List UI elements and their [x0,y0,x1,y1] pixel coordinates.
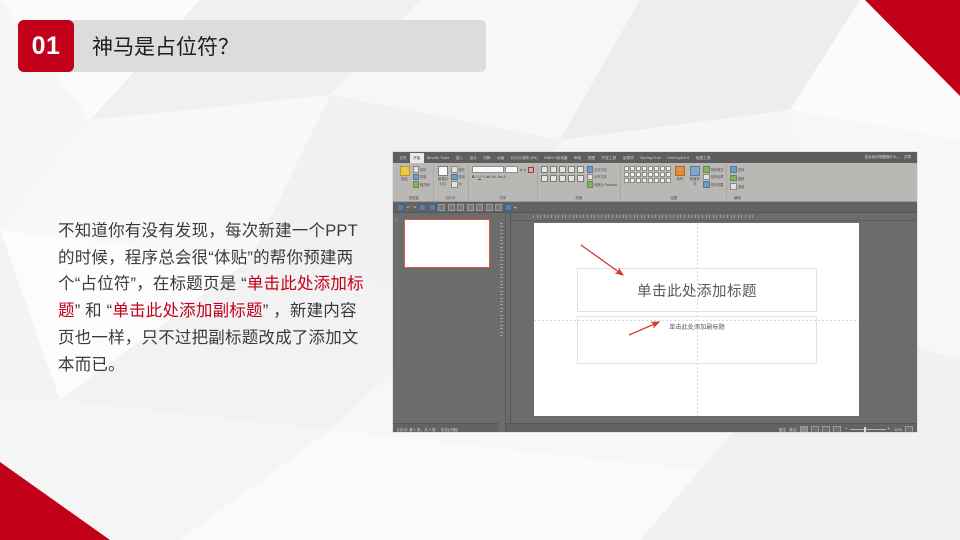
align-center-icon[interactable] [550,175,557,182]
shape-cell[interactable] [648,166,653,171]
ruler-tick [500,243,504,244]
section-number-text: 01 [32,32,61,61]
zoom-track[interactable] [850,429,886,430]
ruler-tick [587,215,588,219]
ruler-tick [500,325,504,326]
ribbon-tab-9[interactable]: 审阅 [571,153,585,163]
shape-cell[interactable] [666,178,671,183]
ruler-tick [630,215,631,219]
align-left-icon[interactable] [541,175,548,182]
ruler-tick [702,215,703,219]
workspace: 1 单击此处添加标题 单击此处添加副标题 [393,213,917,423]
ruler-tick [623,215,624,219]
shape-cell[interactable] [654,166,659,171]
new-file-icon[interactable] [429,204,436,211]
status-language[interactable]: 中文(中国) [441,426,458,433]
ruler-tick [565,215,566,219]
ruler-tick [749,215,750,219]
ruler-tick [666,215,667,219]
body-paragraph: 不知道你有没有发现，每次新建一个PPT的时候，程序总会很“体贴”的帮你预建两个“… [58,218,370,378]
shape-cell[interactable] [624,172,629,177]
ruler-tick [500,328,504,329]
layout-icon [451,166,458,173]
columns-icon[interactable] [577,175,584,182]
ruler-tick [723,215,724,219]
tool4-icon[interactable] [486,204,493,211]
ruler-tick [500,260,504,261]
align-text-button[interactable]: 对齐文本 [587,174,618,181]
ruler-tick [500,240,504,241]
ribbon-group-font: A A B I U S ab AV Aa A 字体 [469,164,538,201]
ribbon-group-clipboard: 粘贴 剪切 复制 格式刷 剪贴板 [395,164,434,201]
ribbon-tab-bar: 文件开始Nevolin Tools插入设计切换动画幻灯片放映 (PA)ABBYY… [393,152,917,163]
copy-button[interactable]: 复制 [413,174,430,181]
ruler-tick [500,287,504,288]
increase-indent-icon[interactable] [568,166,575,173]
increase-font-icon[interactable]: A [520,168,523,172]
ruler-tick [533,215,534,219]
shape-cell[interactable] [636,172,641,177]
shape-outline-button[interactable]: 形状轮廓 [703,174,723,181]
ruler-tick [691,215,692,219]
ruler-tick [713,215,714,219]
tool5-icon[interactable] [495,204,502,211]
ruler-tick [555,215,556,219]
slide-thumbnail-1[interactable] [404,219,490,268]
ruler-tick [500,301,504,302]
undo-icon[interactable]: ↶ [407,205,411,210]
shape-cell[interactable] [660,178,665,183]
title-placeholder[interactable]: 单击此处添加标题 [577,268,817,312]
align-text-icon [587,174,594,181]
ruler-tick [500,247,504,248]
shape-cell[interactable] [654,172,659,177]
new-slide-button[interactable]: 新建幻灯片 [437,166,450,188]
text-direction-button[interactable]: 文字方向 [587,166,618,173]
bullets-icon[interactable] [541,166,548,173]
drawing-group-label: 绘图 [624,196,723,202]
ribbon-tab-10[interactable]: 视图 [585,153,599,163]
ruler-tick [537,215,538,219]
ruler-tick [500,233,504,234]
ruler-tick [540,215,541,219]
page-title: 神马是占位符？ [92,20,239,72]
align-right-icon[interactable] [559,175,566,182]
ruler-tick [626,215,627,219]
character-spacing-button[interactable]: AV [492,175,497,180]
editing-group-label: 编辑 [730,196,744,202]
ribbon-group-paragraph: 文字方向 对齐文本 转换为 SmartArt 段落 [538,164,622,201]
arrange-icon [675,166,685,176]
clipboard-group-label: 剪贴板 [398,196,430,202]
fit-to-window-button[interactable] [905,426,913,433]
paragraph-group-label: 段落 [541,196,618,202]
ruler-tick [500,308,504,309]
view-normal-button[interactable] [800,426,808,433]
shape-cell[interactable] [666,166,671,171]
ruler-tick [500,257,504,258]
ribbon-tab-15[interactable]: 绘图工具 [693,153,714,163]
format-painter-button[interactable]: 格式刷 [413,181,430,188]
text-direction-icon [587,166,594,173]
ruler-tick [500,332,504,333]
quick-styles-icon [690,166,700,176]
reset-icon [451,174,458,181]
copy-icon [413,174,420,181]
ruler-tick [655,215,656,219]
ruler-tick [720,215,721,219]
shape-cell[interactable] [654,178,659,183]
subtitle-placeholder-text: 单击此处添加副标题 [669,322,725,331]
reset-button[interactable]: 重设 [451,174,465,181]
italic-button[interactable]: I [476,175,477,180]
zoom-slider[interactable]: − + [844,427,892,432]
ruler-tick [637,215,638,219]
ruler-tick [500,267,504,268]
shape-cell[interactable] [624,166,629,171]
replace-button[interactable]: 替换 [730,174,744,181]
ruler-tick [500,226,504,227]
ribbon-group-drawing: 排列 快速样式 形状填充 形状轮廓 形状效果 绘图 [621,164,727,201]
search-icon [730,166,737,173]
ribbon-tab-3[interactable]: 插入 [453,153,467,163]
layout-button[interactable]: 版式 [451,166,465,173]
ruler-tick [644,215,645,219]
change-case-button[interactable]: Aa [497,175,501,180]
shape-cell[interactable] [630,172,635,177]
cut-button[interactable]: 剪切 [413,166,430,173]
scissors-icon [413,166,420,173]
ruler-tick [583,215,584,219]
ruler-tick [605,215,606,219]
ruler-tick [500,318,504,319]
view-reading-button[interactable] [822,426,830,433]
tool2-icon[interactable] [467,204,474,211]
line-spacing-icon[interactable] [577,166,584,173]
section-button[interactable]: 节 [451,181,465,188]
font-family-select[interactable] [472,166,504,173]
status-bar: 幻灯片 第 1 张，共 1 张 中文(中国) 备注 批注 − + 62% [393,423,917,432]
slides-group-label: 幻灯片 [437,196,465,202]
ruler-tick [580,215,581,219]
ruler-tick [500,321,504,322]
numbering-icon[interactable] [550,166,557,173]
ruler-tick [619,215,620,219]
ruler-tick [573,215,574,219]
horizontal-ruler [511,213,917,221]
share-button[interactable]: 共享 [904,155,911,160]
select-button[interactable]: 选择 [730,183,744,190]
select-icon [730,183,737,190]
ribbon-tabs-right: 告诉我你想要做什么...共享 [864,155,914,160]
ruler-tick [738,215,739,219]
slide-canvas[interactable]: 单击此处添加标题 单击此处添加副标题 [534,223,859,416]
shape-cell[interactable] [630,178,635,183]
strikethrough-button[interactable]: ab [486,175,490,180]
ruler-tick [659,215,660,219]
ruler-tick [612,215,613,219]
print-preview-icon[interactable] [448,204,455,211]
ruler-tick [500,304,504,305]
shape-cell[interactable] [648,178,653,183]
view-slide-sorter-button[interactable] [811,426,819,433]
ruler-tick [544,215,545,219]
ruler-tick [500,230,504,231]
smartart-icon [587,181,594,188]
redo-icon[interactable]: ↷ [413,205,417,210]
shape-cell[interactable] [666,172,671,177]
slide-thumbnail-panel: 1 [393,213,511,423]
shape-cell[interactable] [648,172,653,177]
subtitle-placeholder[interactable]: 单击此处添加副标题 [577,316,817,364]
shape-cell[interactable] [660,166,665,171]
canvas-area: 单击此处添加标题 单击此处添加副标题 [511,213,917,423]
ribbon-tab-12[interactable]: 加载项 [619,153,636,163]
title-placeholder-text: 单击此处添加标题 [637,280,757,301]
bold-button[interactable]: B [472,175,475,180]
start-from-beginning-icon[interactable] [419,204,426,211]
body-highlight-run: 单击此处添加副标题 [112,302,262,320]
ruler-tick [698,215,699,219]
ruler-tick [500,335,504,336]
ruler-tick [500,294,504,295]
quick-styles-button[interactable]: 快速样式 [688,166,701,188]
ribbon-tab-1[interactable]: 开始 [410,153,424,163]
ruler-tick [695,215,696,219]
status-notes-button[interactable]: 备注 [779,426,786,433]
ruler-tick [500,274,504,275]
ruler-tick [677,215,678,219]
ruler-tick [500,264,504,265]
tool3-icon[interactable] [476,204,483,211]
shape-cell[interactable] [636,166,641,171]
clear-formatting-icon[interactable] [528,167,534,173]
ribbon-tab-14[interactable]: OneKey8.5.6 [664,153,692,163]
ruler-tick [500,250,504,251]
shape-cell[interactable] [642,178,647,183]
status-right-cluster: 备注 批注 − + 62% [779,426,913,433]
ruler-tick [741,215,742,219]
ribbon-tab-13[interactable]: iSpring Free [637,153,664,163]
ribbon-body: 粘贴 剪切 复制 格式刷 剪贴板 新建幻灯片 版式 重设 节 [393,163,917,202]
ribbon-tab-5[interactable]: 切换 [480,153,494,163]
status-slide-count: 幻灯片 第 1 张，共 1 张 [397,426,436,433]
shape-fill-button[interactable]: 形状填充 [703,166,723,173]
ruler-tick [680,215,681,219]
ruler-tick [709,215,710,219]
ruler-tick [562,215,563,219]
ruler-tick [608,215,609,219]
ruler-tick [601,215,602,219]
shape-cell[interactable] [642,172,647,177]
ruler-tick [670,215,671,219]
font-color-button[interactable]: A [503,175,505,180]
ribbon-group-slides: 新建幻灯片 版式 重设 节 幻灯片 [434,164,469,201]
ruler-tick [727,215,728,219]
ruler-tick [673,215,674,219]
ribbon-tab-6[interactable]: 动画 [494,153,508,163]
paste-button[interactable]: 粘贴 [398,166,411,183]
ruler-tick [576,215,577,219]
shape-outline-icon [703,174,710,181]
body-text-run: ” 和 “ [75,302,113,320]
ruler-tick [500,298,504,299]
decrease-indent-icon[interactable] [559,166,566,173]
brush-icon [413,181,420,188]
section-number-badge: 01 [18,20,74,72]
quick-styles-label: 快速样式 [688,177,701,188]
shape-cell[interactable] [642,166,647,171]
qat-more-icon[interactable]: ▾ [514,205,516,210]
shape-cell[interactable] [636,178,641,183]
replace-icon [730,175,737,182]
arrange-label: 排列 [676,177,683,183]
underline-button[interactable]: U [478,175,481,180]
shape-cell[interactable] [630,166,635,171]
ruler-tick [734,215,735,219]
header-bar [18,20,486,72]
new-slide-label: 新建幻灯片 [437,177,450,188]
ruler-tick [500,291,504,292]
justify-icon[interactable] [568,175,575,182]
section-icon [451,181,458,188]
thumbnail-number: 1 [395,218,397,222]
new-slide-icon [438,166,448,176]
ruler-tick [558,215,559,219]
tell-me-search[interactable]: 告诉我你想要做什么... [864,155,899,160]
ruler-tick [684,215,685,219]
shape-cell[interactable] [624,178,629,183]
ribbon-tab-4[interactable]: 设计 [466,153,480,163]
ruler-tick [500,270,504,271]
ruler-tick [745,215,746,219]
shape-effects-icon [703,181,710,188]
vertical-ruler [498,213,506,432]
ruler-tick [716,215,717,219]
ruler-tick [591,215,592,219]
zoom-in-button[interactable]: + [886,427,892,432]
ruler-tick [569,215,570,219]
ruler-tick [500,277,504,278]
open-icon[interactable] [438,204,445,211]
ruler-tick [616,215,617,219]
arrange-button[interactable]: 排列 [673,166,686,183]
ruler-tick [652,215,653,219]
ribbon-group-editing: 查找 替换 选择 编辑 [727,164,747,201]
ribbon-tab-11[interactable]: 开发工具 [598,153,619,163]
ribbon-tab-7[interactable]: 幻灯片放映 (PA) [508,153,541,163]
view-slideshow-button[interactable] [833,426,841,433]
ruler-tick [752,215,753,219]
ruler-tick [547,215,548,219]
ruler-tick [500,281,504,282]
shadow-button[interactable]: S [482,175,484,180]
font-group-label: 字体 [472,196,534,202]
shape-effects-button[interactable]: 形状效果 [703,181,723,188]
ruler-tick [648,215,649,219]
find-button[interactable]: 查找 [730,166,744,173]
shape-cell[interactable] [660,172,665,177]
zoom-level-label: 62% [895,426,902,433]
ruler-tick [551,215,552,219]
powerpoint-screenshot: 文件开始Nevolin Tools插入设计切换动画幻灯片放映 (PA)ABBYY… [393,152,917,432]
ribbon-tab-0[interactable]: 文件 [396,153,410,163]
status-comments-button[interactable]: 批注 [789,426,796,433]
tool-icon[interactable] [457,204,464,211]
ruler-tick [662,215,663,219]
paste-icon [400,166,410,176]
tool6-icon[interactable] [505,204,512,211]
ruler-tick [634,215,635,219]
ribbon-tab-8[interactable]: ABBYY阅读器 [541,153,571,163]
ruler-tick [500,254,504,255]
convert-smartart-button[interactable]: 转换为 SmartArt [587,181,618,188]
ruler-tick [500,223,504,224]
decrease-font-icon[interactable]: A [524,168,526,172]
ruler-tick [594,215,595,219]
ruler-tick [641,215,642,219]
ruler-tick [731,215,732,219]
shapes-gallery[interactable] [624,166,671,183]
zoom-knob[interactable] [864,427,866,432]
ruler-tick [598,215,599,219]
ruler-tick [500,284,504,285]
ruler-tick [706,215,707,219]
ruler-tick [500,315,504,316]
ruler-tick [500,311,504,312]
ribbon-tab-2[interactable]: Nevolin Tools [424,153,453,163]
ruler-tick [500,237,504,238]
paste-label: 粘贴 [401,177,408,183]
font-size-select[interactable] [505,166,518,173]
quick-access-toolbar: ↶ ↷ ▾ [393,202,917,213]
shape-fill-icon [703,166,710,173]
ruler-tick [688,215,689,219]
save-icon[interactable] [397,204,404,211]
